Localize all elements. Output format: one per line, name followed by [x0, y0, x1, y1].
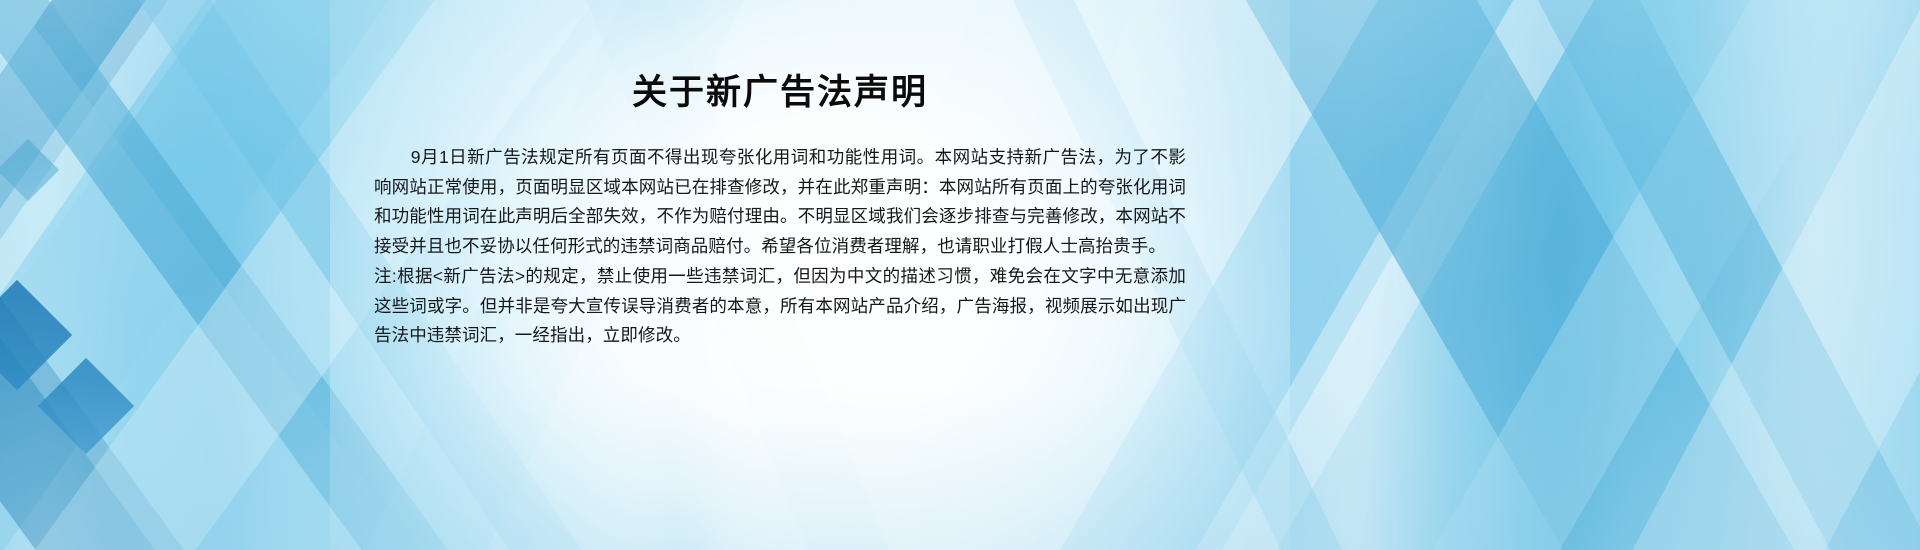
statement-content: 关于新广告法声明 9月1日新广告法规定所有页面不得出现夸张化用词和功能性用词。本…: [374, 72, 1186, 351]
page-title: 关于新广告法声明: [374, 72, 1186, 114]
statement-paragraph-1: 9月1日新广告法规定所有页面不得出现夸张化用词和功能性用词。本网站支持新广告法，…: [374, 143, 1186, 261]
announcement-banner: 关于新广告法声明 9月1日新广告法规定所有页面不得出现夸张化用词和功能性用词。本…: [0, 0, 1920, 550]
statement-paragraph-2: 注:根据<新广告法>的规定，禁止使用一些违禁词汇，但因为中文的描述习惯，难免会在…: [374, 262, 1186, 351]
